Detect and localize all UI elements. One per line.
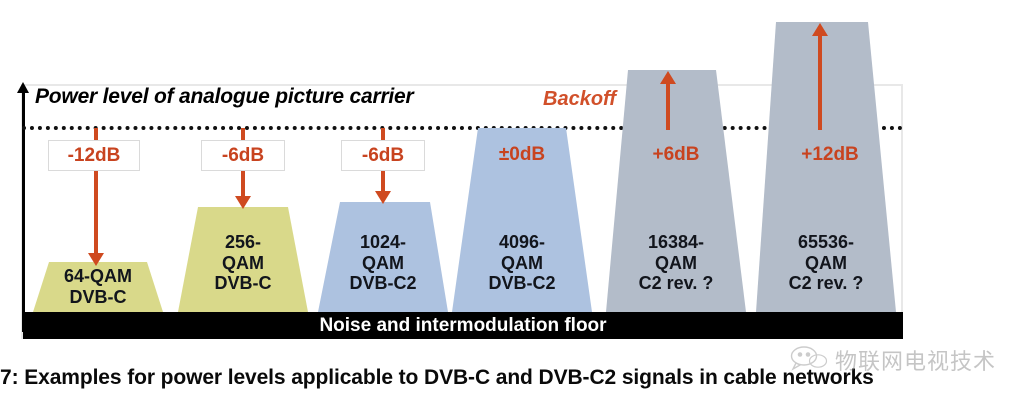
arrow-head-1024qam — [375, 191, 391, 204]
signal-bar-256qam: 256- QAM DVB-C — [178, 207, 308, 312]
db-tag-16384qam: +6dB — [634, 140, 718, 171]
db-tag-65536qam: +12dB — [784, 140, 876, 171]
arrow-head-256qam — [235, 196, 251, 209]
arrow-head-65536qam — [812, 23, 828, 36]
signal-label-1024qam: 1024- QAM DVB-C2 — [318, 232, 448, 294]
watermark: 物联网电视技术 — [790, 344, 996, 376]
y-axis-title: Power level of analogue picture carrier — [35, 85, 414, 109]
db-tag-1024qam: -6dB — [341, 140, 425, 171]
signal-label-64qam: 64-QAM DVB-C — [33, 266, 163, 307]
signal-label-65536qam: 65536- QAM C2 rev. ? — [756, 232, 896, 294]
figure-canvas: Power level of analogue picture carrier … — [0, 0, 1036, 411]
y-axis-line — [22, 88, 25, 332]
wechat-bubble-icon — [790, 345, 828, 376]
y-axis-arrow-icon — [17, 82, 29, 93]
signal-bar-16384qam: 16384- QAM C2 rev. ? — [606, 70, 746, 312]
arrow-head-64qam — [88, 253, 104, 266]
arrow-shaft-65536qam — [818, 35, 822, 130]
signal-label-16384qam: 16384- QAM C2 rev. ? — [606, 232, 746, 294]
arrow-head-16384qam — [660, 71, 676, 84]
signal-label-4096qam: 4096- QAM DVB-C2 — [452, 232, 592, 294]
signal-bar-64qam: 64-QAM DVB-C — [33, 262, 163, 312]
signal-label-256qam: 256- QAM DVB-C — [178, 232, 308, 294]
watermark-text: 物联网电视技术 — [835, 344, 996, 376]
noise-floor-label: Noise and intermodulation floor — [23, 312, 903, 339]
db-tag-256qam: -6dB — [201, 140, 285, 171]
db-tag-64qam: -12dB — [48, 140, 140, 171]
db-tag-4096qam: ±0dB — [480, 140, 564, 171]
arrow-shaft-16384qam — [666, 83, 670, 130]
signal-bar-1024qam: 1024- QAM DVB-C2 — [318, 202, 448, 312]
